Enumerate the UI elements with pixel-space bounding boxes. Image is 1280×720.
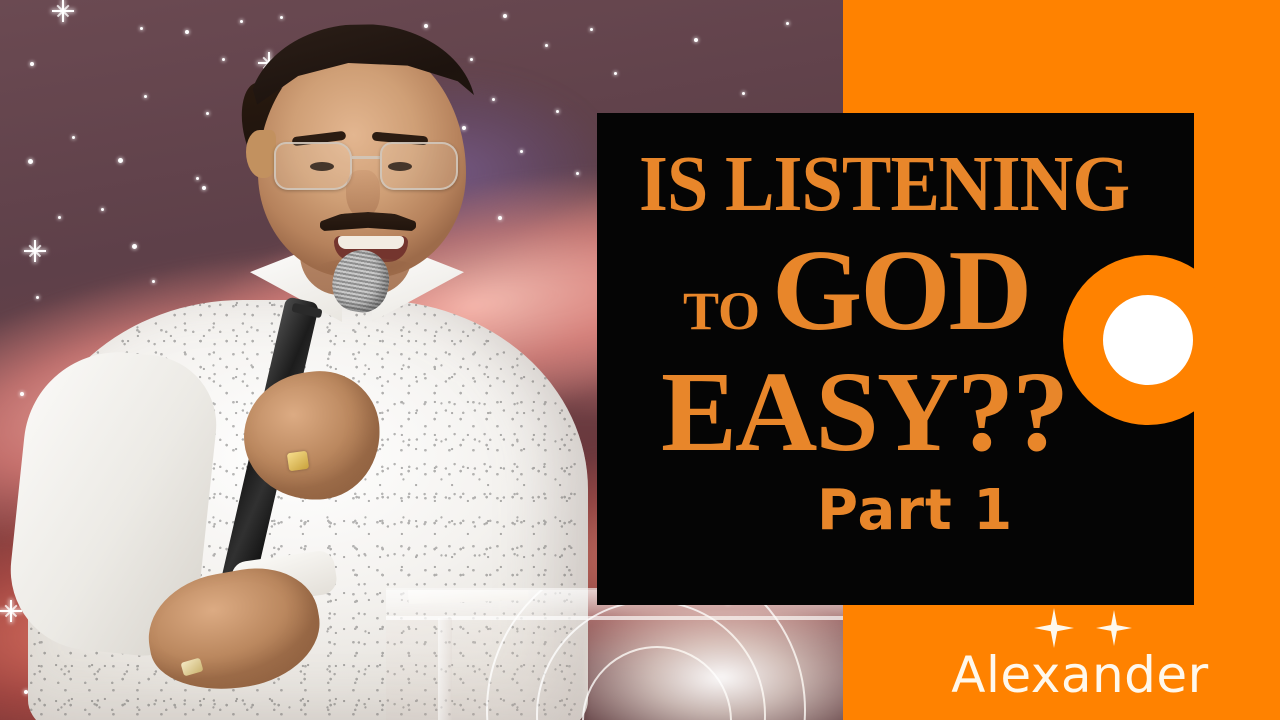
thumbnail-canvas: IS LISTENING TOGOD EASY?? Part 1 Alexand… [0, 0, 1280, 720]
logo-sparkles [880, 608, 1280, 648]
title-word-to: TO [683, 281, 760, 341]
acrylic-podium [386, 588, 843, 720]
ring-inner-dot [1103, 295, 1193, 385]
brand-logo: Alexander [880, 608, 1280, 720]
nose [346, 170, 380, 218]
title-word-god: GOD [772, 227, 1030, 355]
teeth [338, 236, 404, 249]
title-line-4-part-number: Part 1 [639, 483, 1180, 539]
four-point-star-icon [1096, 610, 1132, 646]
lens-left [274, 142, 352, 190]
lens-right [380, 142, 458, 190]
gold-ring [287, 451, 309, 472]
podium-post [438, 618, 452, 720]
glasses-bridge [352, 156, 380, 159]
logo-wordmark: Alexander [880, 650, 1280, 700]
title-line-1: IS LISTENING [639, 147, 1148, 223]
four-point-star-icon [1034, 608, 1074, 648]
podium-glow [586, 610, 843, 720]
